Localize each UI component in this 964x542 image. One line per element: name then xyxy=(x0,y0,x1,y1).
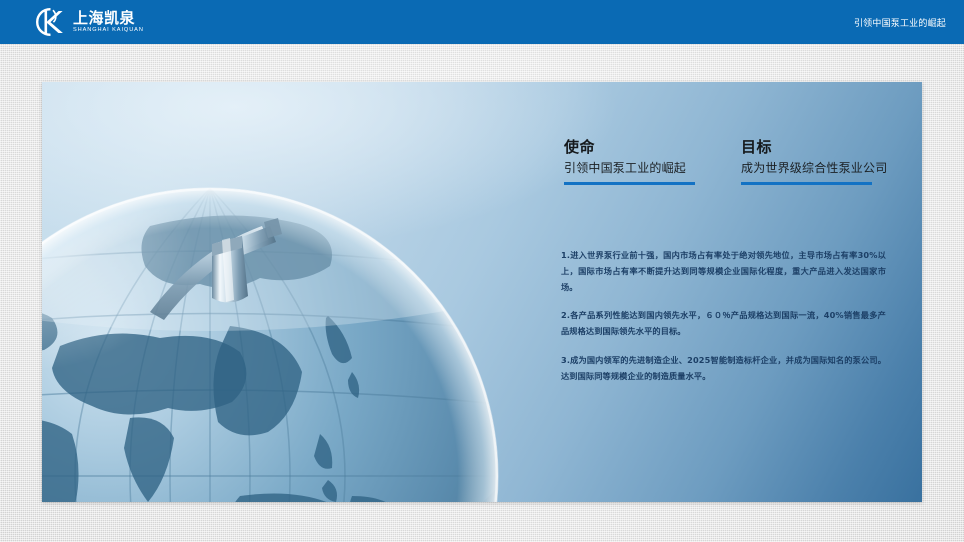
body-paragraph: 3.成为国内领军的先进制造企业、2025智能制造标杆企业，并成为国际知名的泵公司… xyxy=(561,353,886,385)
slide-canvas: 使命 引领中国泵工业的崛起 目标 成为世界级综合性泵业公司 1.进入世界泵行业前… xyxy=(42,82,922,502)
body-paragraph: 1.进入世界泵行业前十强，国内市场占有率处于绝对领先地位，主导市场占有率30%以… xyxy=(561,248,886,295)
mission-underline xyxy=(564,182,695,185)
mission-subtitle: 引领中国泵工业的崛起 xyxy=(564,161,719,177)
brand-wordmark: 上海凯泉 SHANGHAI KAIQUAN xyxy=(73,11,142,34)
body-paragraph: 2.各产品系列性能达到国内领先水平，６０％产品规格达到国际一流，40%销售最多产… xyxy=(561,308,886,340)
goal-column: 目标 成为世界级综合性泵业公司 xyxy=(741,138,896,185)
mission-title: 使命 xyxy=(564,138,719,157)
brand-name-cn: 上海凯泉 xyxy=(73,11,142,26)
goal-underline xyxy=(741,182,872,185)
goal-title: 目标 xyxy=(741,138,896,157)
slide-text-content: 使命 引领中国泵工业的崛起 目标 成为世界级综合性泵业公司 1.进入世界泵行业前… xyxy=(519,82,922,502)
kaiquan-logo-icon xyxy=(34,7,68,37)
brand-logo[interactable]: 上海凯泉 SHANGHAI KAIQUAN xyxy=(34,6,142,38)
body-paragraph-list: 1.进入世界泵行业前十强，国内市场占有率处于绝对领先地位，主导市场占有率30%以… xyxy=(561,248,886,384)
app-header-bar: 上海凯泉 SHANGHAI KAIQUAN 引领中国泵工业的崛起 xyxy=(0,0,964,44)
goal-subtitle: 成为世界级综合性泵业公司 xyxy=(741,161,896,177)
mission-column: 使命 引领中国泵工业的崛起 xyxy=(564,138,719,185)
header-tagline: 引领中国泵工业的崛起 xyxy=(854,0,946,44)
brand-name-en: SHANGHAI KAIQUAN xyxy=(73,28,144,34)
headings-row: 使命 引领中国泵工业的崛起 目标 成为世界级综合性泵业公司 xyxy=(564,138,896,185)
